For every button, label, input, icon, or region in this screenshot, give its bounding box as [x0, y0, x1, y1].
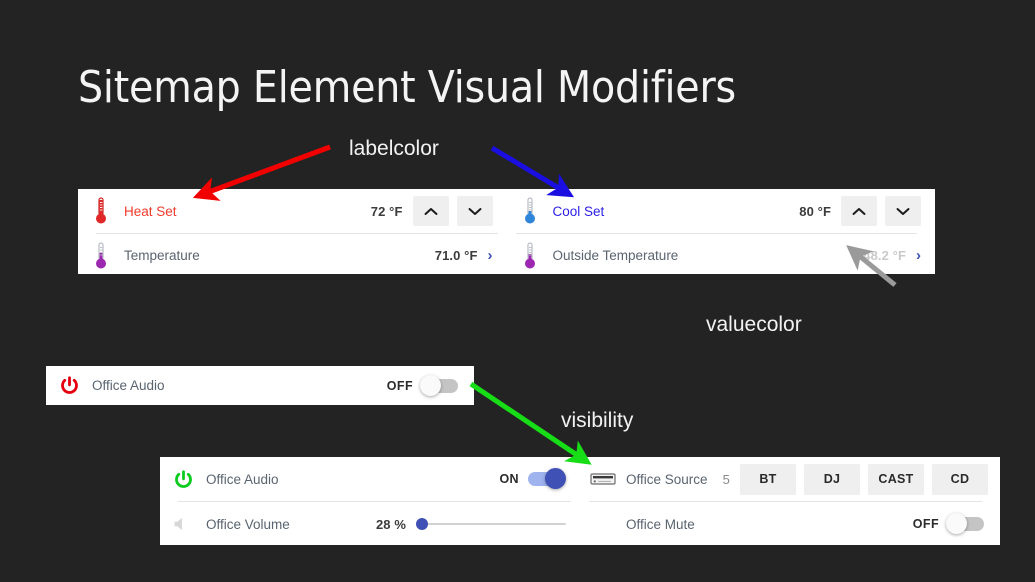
audio-row-bottom: Office Volume 28 % Office Mute OFF: [160, 502, 1000, 546]
heat-set-value: 72 °F: [371, 204, 413, 219]
outside-temperature-chevron-right-icon[interactable]: ›: [916, 248, 935, 263]
heat-set-increase-button[interactable]: [413, 196, 449, 226]
office-volume-slider[interactable]: [416, 523, 580, 525]
heat-set-label: Heat Set: [124, 204, 371, 219]
heat-set-cell: Heat Set 72 °F: [78, 189, 507, 233]
row-office-mute[interactable]: Office Mute OFF: [580, 502, 1000, 546]
receiver-icon: [580, 471, 626, 487]
screenshot-root: Sitemap Element Visual Modifiers: [0, 0, 1035, 582]
arrow-labelcolor-red: [206, 147, 330, 193]
office-source-value: 5: [723, 472, 740, 487]
office-mute-toggle[interactable]: [948, 517, 984, 531]
office-source-cell: Office Source 5 BT DJ CAST CD: [580, 457, 1000, 501]
office-audio-off-card: Office Audio OFF: [46, 366, 474, 405]
office-mute-state: OFF: [913, 517, 939, 531]
office-audio-off-label: Office Audio: [92, 378, 387, 393]
row-heat-set[interactable]: Heat Set 72 °F: [78, 189, 507, 233]
office-mute-cell: Office Mute OFF: [580, 502, 1000, 546]
office-audio-off-toggle[interactable]: [422, 379, 458, 393]
office-volume-slider-track[interactable]: [416, 523, 566, 525]
thermometer-red-icon: [78, 197, 124, 225]
audio-row-top: Office Audio ON: [160, 457, 1000, 501]
power-green-icon: [160, 469, 206, 490]
outside-temperature-value: 48.2 °F: [863, 248, 916, 263]
page-title: Sitemap Element Visual Modifiers: [78, 62, 736, 113]
office-volume-slider-thumb[interactable]: [416, 518, 428, 530]
power-red-icon: [46, 375, 92, 396]
row-outside-temperature[interactable]: Outside Temperature 48.2 °F ›: [507, 234, 936, 277]
office-audio-on-switch-wrap[interactable]: ON: [499, 472, 580, 486]
chevron-down-icon: [468, 207, 482, 216]
office-audio-off-state: OFF: [387, 379, 413, 393]
chevron-up-icon: [424, 207, 438, 216]
office-audio-off-switch-wrap[interactable]: OFF: [387, 379, 474, 393]
row-office-volume[interactable]: Office Volume 28 %: [160, 502, 580, 546]
annotation-labelcolor: labelcolor: [349, 137, 439, 161]
office-audio-on-cell: Office Audio ON: [160, 457, 580, 501]
thermostat-row-bottom: Temperature 71.0 °F ›: [78, 234, 935, 277]
office-source-button-dj[interactable]: DJ: [804, 464, 860, 495]
office-source-button-cast[interactable]: CAST: [868, 464, 924, 495]
thermostat-card: Heat Set 72 °F: [78, 189, 935, 274]
office-audio-on-state: ON: [499, 472, 519, 486]
office-audio-on-label: Office Audio: [206, 472, 499, 487]
outside-temperature-cell: Outside Temperature 48.2 °F ›: [507, 234, 936, 277]
cool-set-label: Cool Set: [553, 204, 800, 219]
office-volume-cell: Office Volume 28 %: [160, 502, 580, 546]
thermostat-row-top: Heat Set 72 °F: [78, 189, 935, 233]
annotation-visibility: visibility: [561, 409, 633, 433]
thermometer-blue-icon: [507, 197, 553, 225]
office-source-button-group: BT DJ CAST CD: [740, 464, 1000, 495]
office-mute-switch-wrap[interactable]: OFF: [913, 517, 1000, 531]
temperature-label: Temperature: [124, 248, 435, 263]
temperature-chevron-right-icon[interactable]: ›: [488, 248, 507, 263]
chevron-down-icon: [896, 207, 910, 216]
office-mute-label: Office Mute: [626, 517, 913, 532]
cool-set-cell: Cool Set 80 °F: [507, 189, 936, 233]
office-source-label: Office Source: [626, 472, 723, 487]
thermometer-purple-icon: [507, 242, 553, 270]
thermometer-purple-icon: [78, 242, 124, 270]
office-source-button-bt[interactable]: BT: [740, 464, 796, 495]
temperature-cell: Temperature 71.0 °F ›: [78, 234, 507, 277]
heat-set-stepper: [413, 196, 507, 226]
cool-set-increase-button[interactable]: [841, 196, 877, 226]
row-office-audio-off[interactable]: Office Audio OFF: [46, 366, 474, 405]
office-audio-on-toggle[interactable]: [528, 472, 564, 486]
row-office-source[interactable]: Office Source 5 BT DJ CAST CD: [580, 457, 1000, 501]
office-volume-label: Office Volume: [206, 517, 376, 532]
office-volume-value: 28 %: [376, 517, 416, 532]
row-office-audio-on[interactable]: Office Audio ON: [160, 457, 580, 501]
cool-set-value: 80 °F: [799, 204, 841, 219]
row-cool-set[interactable]: Cool Set 80 °F: [507, 189, 936, 233]
arrow-labelcolor-blue: [492, 148, 562, 190]
outside-temperature-label: Outside Temperature: [553, 248, 864, 263]
cool-set-stepper: [841, 196, 935, 226]
speaker-mute-icon: [160, 515, 206, 533]
office-audio-on-card: Office Audio ON: [160, 457, 1000, 545]
heat-set-decrease-button[interactable]: [457, 196, 493, 226]
temperature-value: 71.0 °F: [435, 248, 488, 263]
annotation-valuecolor: valuecolor: [706, 313, 802, 337]
office-source-button-cd[interactable]: CD: [932, 464, 988, 495]
row-temperature[interactable]: Temperature 71.0 °F ›: [78, 234, 507, 277]
chevron-up-icon: [852, 207, 866, 216]
cool-set-decrease-button[interactable]: [885, 196, 921, 226]
